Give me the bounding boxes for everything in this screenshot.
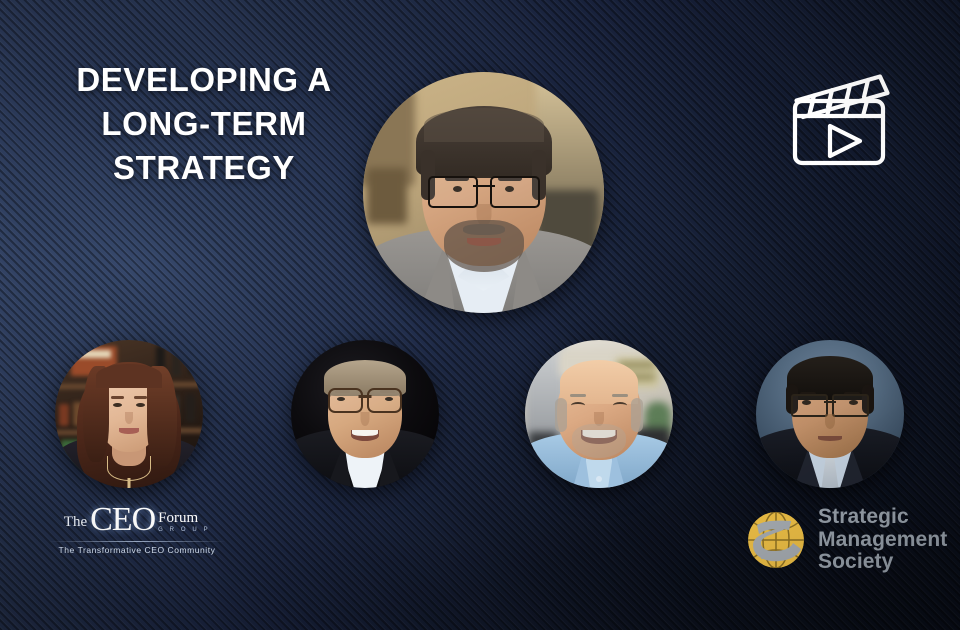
ceo-logo-group: G R O U P <box>158 527 210 533</box>
portrait-panelist-2[interactable] <box>291 340 439 488</box>
ceo-logo-right-stack: Forum G R O U P <box>158 511 210 533</box>
ceo-logo-divider <box>48 541 226 542</box>
strategic-management-society-logo[interactable]: Strategic Management Society <box>745 497 920 583</box>
page-title: DEVELOPING A LONG-TERM STRATEGY <box>54 58 354 190</box>
sms-globe-icon <box>745 509 807 571</box>
portrait-panelist-1-image <box>55 340 203 488</box>
portrait-main-speaker-image <box>363 72 604 313</box>
ceo-logo-tagline: The Transformative CEO Community <box>42 545 232 555</box>
portrait-panelist-4[interactable] <box>756 340 904 488</box>
ceo-logo-ceo: CEO <box>90 503 155 537</box>
portrait-panelist-3-image <box>525 340 673 488</box>
ceo-logo-the: The <box>64 515 87 530</box>
ceo-logo-wordmark-row: The CEO Forum G R O U P <box>42 503 232 537</box>
clapperboard-play-icon[interactable] <box>784 64 896 172</box>
portrait-panelist-4-image <box>756 340 904 488</box>
sms-logo-text: Strategic Management Society <box>818 506 947 574</box>
portrait-panelist-1[interactable] <box>55 340 203 488</box>
portrait-panelist-3[interactable] <box>525 340 673 488</box>
portrait-panelist-2-image <box>291 340 439 488</box>
promo-thumbnail-canvas: DEVELOPING A LONG-TERM STRATEGY <box>0 0 960 630</box>
ceo-logo-forum: Forum <box>158 511 198 526</box>
portrait-main-speaker[interactable] <box>363 72 604 313</box>
the-ceo-forum-group-logo[interactable]: The CEO Forum G R O U P The Transformati… <box>42 503 232 565</box>
